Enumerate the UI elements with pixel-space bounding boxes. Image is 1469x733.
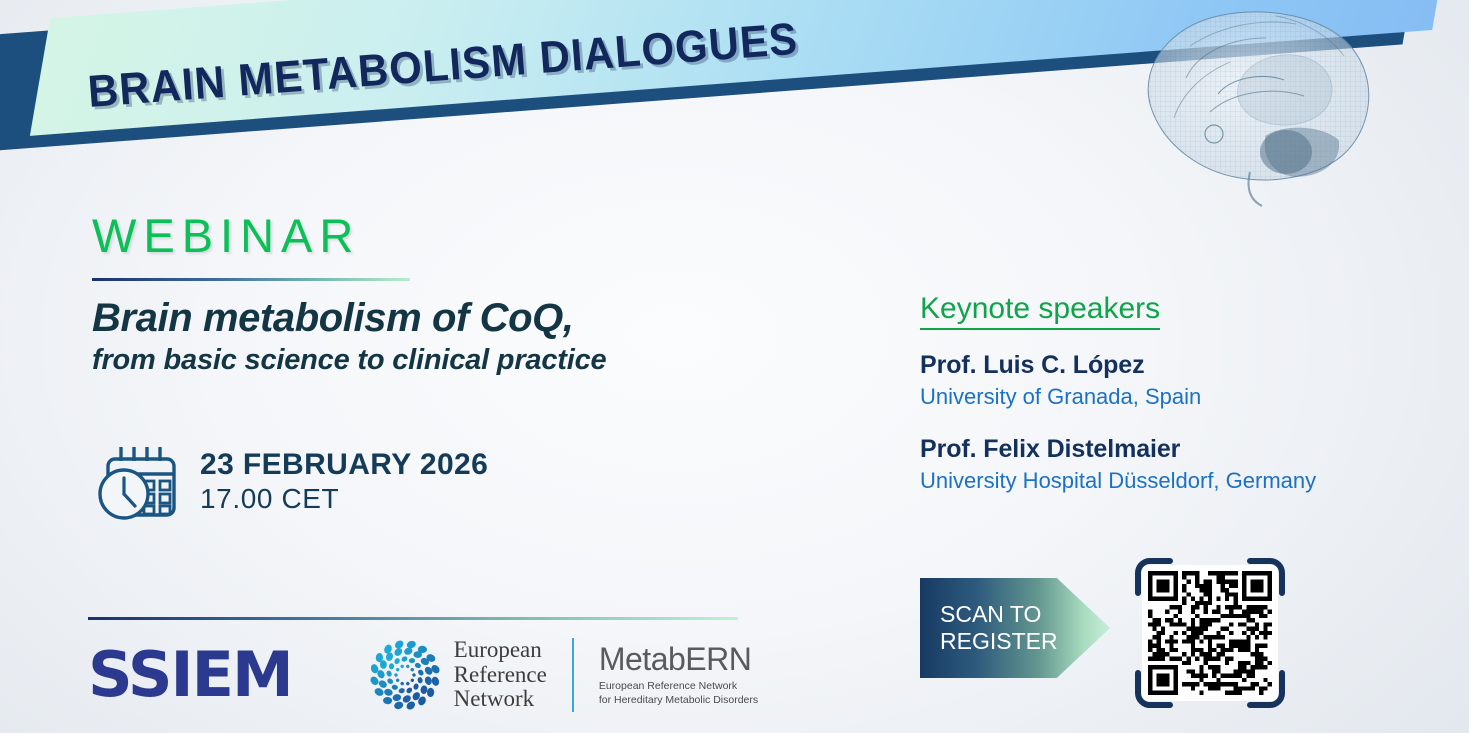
webinar-kicker: WEBINAR [92, 208, 360, 263]
talk-title-line2: from basic science to clinical practice [92, 343, 852, 378]
metabern-sub-line1: European Reference Network [599, 680, 758, 694]
footer-divider [88, 617, 738, 620]
talk-title-line1: Brain metabolism of CoQ, [92, 296, 852, 341]
keynote-heading: Keynote speakers [920, 292, 1160, 330]
qr-code-icon[interactable] [1134, 557, 1286, 709]
speaker-affiliation: University Hospital Düsseldorf, Germany [920, 467, 1440, 496]
date-time-text: 23 FEBRUARY 2026 17.00 CET [200, 448, 488, 515]
ern-line1: European [454, 638, 547, 663]
ern-logo-text: European Reference Network [454, 638, 547, 712]
logo-row: SSIEM European Reference Network MetabER… [88, 630, 758, 720]
ern-line3: Network [454, 687, 547, 712]
event-time: 17.00 CET [200, 482, 488, 516]
logo-vertical-divider [572, 638, 574, 712]
speakers-list: Prof. Luis C. López University of Granad… [920, 350, 1440, 518]
european-reference-network-logo: European Reference Network MetabERN Euro… [368, 638, 759, 712]
talk-title: Brain metabolism of CoQ, from basic scie… [92, 296, 852, 378]
qr-modules [1148, 571, 1272, 695]
metabern-sub-line2: for Hereditary Metabolic Disorders [599, 694, 758, 708]
speaker-item: Prof. Luis C. López University of Granad… [920, 350, 1440, 412]
speaker-name: Prof. Luis C. López [920, 350, 1440, 381]
webinar-poster: BRAIN METABOLISM DIALOGUES WEBINAR Brain… [0, 0, 1469, 733]
ssiem-logo: SSIEM [88, 644, 292, 706]
calendar-clock-icon [96, 440, 182, 524]
metabern-subtitle: European Reference Network for Hereditar… [599, 680, 758, 707]
ern-dot-spiral-icon [368, 638, 442, 712]
metabern-name: MetabERN [599, 643, 758, 677]
brain-wireframe-icon [1090, 0, 1420, 211]
metabern-logo: MetabERN European Reference Network for … [599, 643, 758, 708]
scan-line2: REGISTER [940, 628, 1100, 655]
date-time-block: 23 FEBRUARY 2026 17.00 CET [96, 440, 488, 524]
speaker-affiliation: University of Granada, Spain [920, 383, 1440, 412]
speaker-item: Prof. Felix Distelmaier University Hospi… [920, 434, 1440, 496]
speaker-name: Prof. Felix Distelmaier [920, 434, 1440, 465]
kicker-divider [92, 278, 410, 281]
scan-line1: SCAN TO [940, 601, 1100, 628]
ern-line2: Reference [454, 663, 547, 688]
scan-to-register-label: SCAN TO REGISTER [940, 601, 1100, 655]
event-date: 23 FEBRUARY 2026 [200, 448, 488, 482]
